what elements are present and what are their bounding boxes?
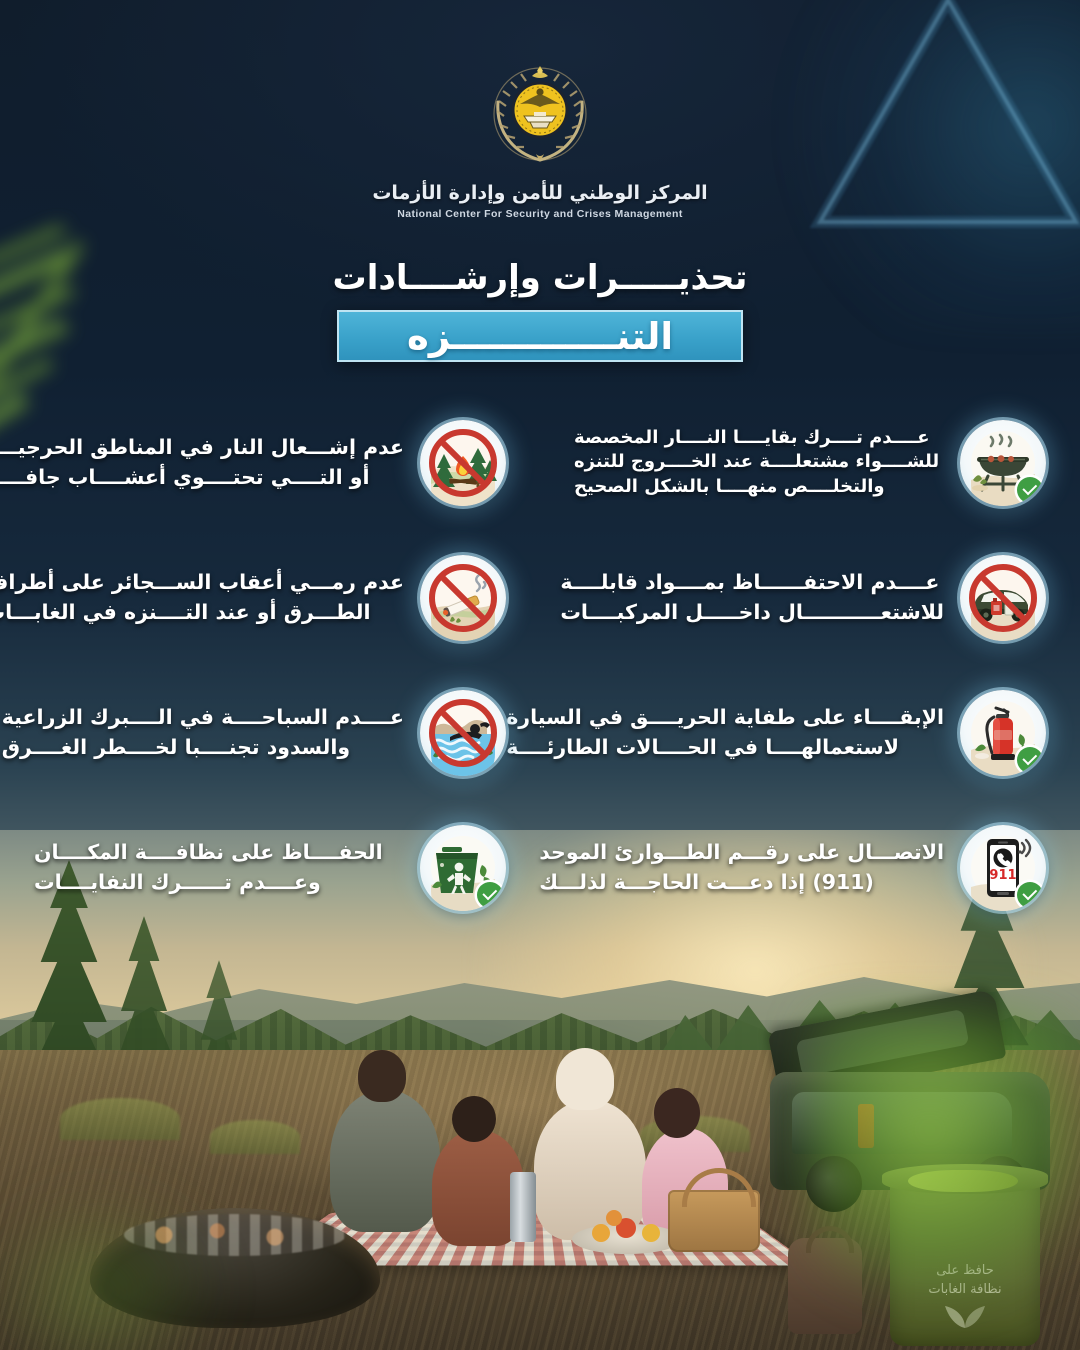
phone-911-icon: 911	[960, 825, 1046, 911]
tip-text: عــــدم تــــرك بقايــــا النــــار المخ…	[574, 426, 944, 499]
no-campfire-forest-icon	[420, 420, 506, 506]
father-head	[358, 1050, 406, 1102]
tips-column-left: عــــدم تــــرك بقايــــا النــــار المخ…	[540, 395, 1080, 935]
tip-call-emergency-911: 911 الاتصـــال على رقـــم الطـــوارئ الم…	[540, 800, 1080, 935]
tip-extinguish-bbq-remains: عــــدم تــــرك بقايــــا النــــار المخ…	[540, 395, 1080, 530]
org-name-arabic: المركز الوطني للأمن وإدارة الأزمات	[0, 182, 1080, 204]
page-title: التنـــــــــــــزه	[407, 318, 673, 355]
tip-text: عدم رمـــي أعقاب الســـجائر على أطراف ال…	[0, 568, 404, 626]
tip-text: عدم إشـــعال النار في المناطق الحرجيـــة…	[0, 433, 404, 491]
approved-check-badge-icon	[1017, 747, 1043, 773]
tips-column-right: عدم إشـــعال النار في المناطق الحرجيـــة…	[0, 395, 540, 935]
tip-text: الحفــــاظ على نظافــــة المكــــان وعــ…	[34, 838, 404, 896]
fire-extinguisher-icon	[960, 690, 1046, 776]
no-cigarette-littering-icon	[420, 555, 506, 641]
thermos-flask	[510, 1172, 536, 1242]
tips-grid: عدم إشـــعال النار في المناطق الحرجيـــة…	[0, 395, 1080, 935]
jordan-national-emblem-icon	[484, 58, 596, 170]
tip-no-fire-forest: عدم إشـــعال النار في المناطق الحرجيـــة…	[0, 395, 540, 530]
foreground-green-bokeh	[0, 1190, 220, 1350]
tip-no-flammables-in-vehicle: عــــدم الاحتفــــــاظ بمــــواد قابلـــ…	[540, 530, 1080, 665]
fruit	[592, 1224, 610, 1242]
no-flammable-in-car-icon	[960, 555, 1046, 641]
fruit	[642, 1224, 660, 1242]
page-kicker: تحذيـــــرات وإرشــــادات	[0, 258, 1080, 298]
no-swimming-icon	[420, 690, 506, 776]
tip-keep-fire-extinguisher: الإبقــــاء على طفاية الحريــــق في السي…	[540, 665, 1080, 800]
tip-text: عــــدم السباحــــة في الــــبرك الزراعي…	[2, 703, 404, 761]
badge-dotted-ring	[420, 420, 506, 506]
org-name-english: National Center For Security and Crises …	[0, 208, 1080, 220]
grass-tuft	[210, 1120, 300, 1154]
badge-dotted-ring	[420, 690, 506, 776]
badge-dotted-ring	[960, 555, 1046, 641]
poster-canvas: حافظ على نظافة الغابات	[0, 0, 1080, 1350]
trash-bin-recycle-icon	[420, 825, 506, 911]
tip-keep-place-clean: الحفــــاظ على نظافــــة المكــــان وعــ…	[0, 800, 540, 935]
tip-text: عــــدم الاحتفــــــاظ بمــــواد قابلـــ…	[560, 568, 944, 626]
girl-head	[654, 1088, 700, 1138]
approved-check-badge-icon	[1017, 477, 1043, 503]
mother-head-hijab	[556, 1048, 614, 1110]
tip-no-swimming-ponds-dams: عــــدم السباحــــة في الــــبرك الزراعي…	[0, 665, 540, 800]
approved-check-badge-icon	[477, 882, 503, 908]
page-title-banner: التنـــــــــــــزه	[337, 310, 743, 362]
approved-check-badge-icon	[1017, 882, 1043, 908]
fruit	[606, 1210, 622, 1226]
tip-text: الاتصـــال على رقـــم الطـــوارئ الموحد …	[539, 838, 944, 896]
foreground-green-bokeh	[810, 1010, 1080, 1310]
poster-header: المركز الوطني للأمن وإدارة الأزمات Natio…	[0, 0, 1080, 362]
picnic-basket	[668, 1190, 760, 1252]
grass-tuft	[60, 1098, 180, 1140]
tip-text: الإبقــــاء على طفاية الحريــــق في السي…	[506, 703, 944, 761]
bbq-grill-icon	[960, 420, 1046, 506]
boy-head	[452, 1096, 496, 1142]
badge-dotted-ring	[420, 555, 506, 641]
tip-no-cigarette-butts: عدم رمـــي أعقاب الســـجائر على أطراف ال…	[0, 530, 540, 665]
